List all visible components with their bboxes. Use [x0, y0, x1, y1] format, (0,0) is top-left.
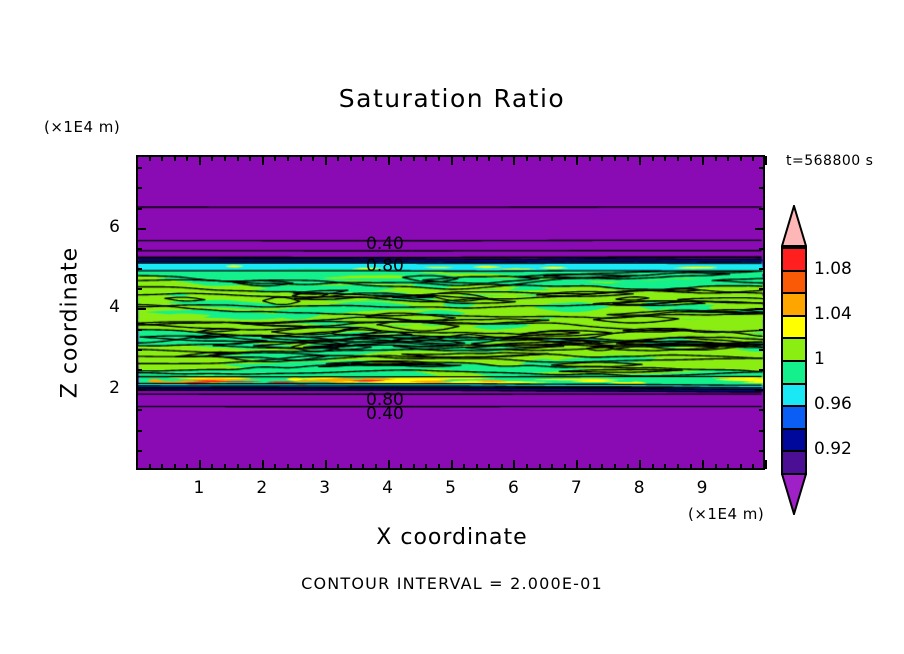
- tick-mark: [137, 308, 146, 310]
- tick-mark: [438, 464, 440, 469]
- tick-mark: [614, 156, 616, 161]
- tick-mark: [451, 460, 453, 469]
- tick-mark: [287, 464, 289, 469]
- tick-mark: [589, 464, 591, 469]
- tick-mark: [488, 156, 490, 161]
- tick-mark: [677, 156, 679, 161]
- tick-mark: [425, 156, 427, 161]
- tick-mark: [137, 369, 142, 371]
- tick-mark: [539, 464, 541, 469]
- tick-mark: [526, 464, 528, 469]
- colorbar-top-cap: [781, 205, 807, 247]
- tick-mark: [137, 167, 142, 169]
- tick-mark: [274, 156, 276, 161]
- tick-mark: [702, 156, 704, 165]
- tick-mark: [664, 464, 666, 469]
- colorbar-tick-label: 1.04: [814, 304, 852, 324]
- tick-mark: [614, 464, 616, 469]
- tick-mark: [400, 464, 402, 469]
- tick-mark: [137, 409, 142, 411]
- colorbar-band: [781, 292, 807, 317]
- tick-mark: [325, 156, 327, 165]
- tick-mark: [759, 288, 764, 290]
- tick-mark: [262, 460, 264, 469]
- colorbar-band: [781, 383, 807, 408]
- tick-mark: [375, 464, 377, 469]
- tick-mark: [601, 464, 603, 469]
- tick-mark: [765, 460, 767, 469]
- contour-line-label: 0.40: [366, 404, 404, 424]
- tick-mark: [476, 156, 478, 161]
- tick-mark: [388, 156, 390, 165]
- colorbar-band: [781, 360, 807, 385]
- tick-mark: [513, 156, 515, 165]
- tick-mark: [476, 464, 478, 469]
- colorbar-band: [781, 450, 807, 475]
- tick-mark: [362, 464, 364, 469]
- tick-mark: [652, 464, 654, 469]
- tick-mark: [186, 156, 188, 161]
- tick-mark: [287, 156, 289, 161]
- tick-mark: [237, 156, 239, 161]
- tick-mark: [759, 430, 764, 432]
- tick-mark: [752, 156, 754, 161]
- y-tick-label: 4: [96, 297, 120, 317]
- tick-mark: [137, 187, 142, 189]
- tick-mark: [759, 187, 764, 189]
- tick-mark: [137, 208, 142, 210]
- tick-mark: [137, 268, 142, 270]
- colorbar-band: [781, 337, 807, 362]
- x-tick-label: 4: [368, 478, 408, 498]
- tick-mark: [564, 156, 566, 161]
- tick-mark: [652, 156, 654, 161]
- tick-mark: [211, 156, 213, 161]
- tick-mark: [137, 288, 142, 290]
- tick-mark: [702, 460, 704, 469]
- colorbar-bottom-cap: [781, 473, 807, 515]
- colorbar-tick-label: 0.96: [814, 394, 852, 414]
- tick-mark: [765, 156, 767, 165]
- tick-mark: [759, 329, 764, 331]
- tick-mark: [224, 156, 226, 161]
- x-axis-unit-label: (×1E4 m): [688, 505, 764, 523]
- x-tick-label: 7: [556, 478, 596, 498]
- tick-mark: [755, 389, 764, 391]
- tick-mark: [677, 464, 679, 469]
- tick-mark: [740, 156, 742, 161]
- tick-mark: [551, 464, 553, 469]
- tick-mark: [639, 460, 641, 469]
- tick-mark: [199, 460, 201, 469]
- tick-mark: [501, 156, 503, 161]
- tick-mark: [425, 464, 427, 469]
- tick-mark: [211, 464, 213, 469]
- tick-mark: [564, 464, 566, 469]
- tick-mark: [488, 464, 490, 469]
- tick-mark: [262, 156, 264, 165]
- tick-mark: [350, 156, 352, 161]
- tick-mark: [639, 156, 641, 165]
- colorbar: [781, 205, 807, 515]
- tick-mark: [186, 464, 188, 469]
- tick-mark: [759, 248, 764, 250]
- x-tick-label: 2: [242, 478, 282, 498]
- tick-mark: [137, 430, 142, 432]
- time-annotation: t=568800 s: [786, 153, 873, 169]
- tick-mark: [312, 464, 314, 469]
- tick-mark: [137, 248, 142, 250]
- tick-mark: [312, 156, 314, 161]
- tick-mark: [664, 156, 666, 161]
- tick-mark: [149, 156, 151, 161]
- tick-mark: [715, 464, 717, 469]
- contour-line-label: 0.40: [366, 234, 404, 254]
- tick-mark: [337, 464, 339, 469]
- tick-mark: [759, 208, 764, 210]
- x-tick-label: 6: [493, 478, 533, 498]
- tick-mark: [715, 156, 717, 161]
- tick-mark: [627, 156, 629, 161]
- tick-mark: [589, 156, 591, 161]
- z-axis-unit-label: (×1E4 m): [44, 118, 120, 136]
- colorbar-band: [781, 270, 807, 295]
- y-tick-label: 6: [96, 217, 120, 237]
- tick-mark: [325, 460, 327, 469]
- tick-mark: [759, 268, 764, 270]
- y-axis-title: Z coordinate: [58, 193, 83, 453]
- colorbar-band: [781, 315, 807, 340]
- tick-mark: [501, 464, 503, 469]
- tick-mark: [576, 156, 578, 165]
- tick-mark: [362, 156, 364, 161]
- colorbar-band: [781, 428, 807, 453]
- tick-mark: [413, 464, 415, 469]
- tick-mark: [350, 464, 352, 469]
- tick-mark: [576, 460, 578, 469]
- tick-mark: [137, 450, 142, 452]
- tick-mark: [755, 228, 764, 230]
- x-tick-label: 9: [682, 478, 722, 498]
- tick-mark: [438, 156, 440, 161]
- tick-mark: [274, 464, 276, 469]
- tick-mark: [199, 156, 201, 165]
- tick-mark: [526, 156, 528, 161]
- tick-mark: [601, 156, 603, 161]
- x-tick-label: 8: [619, 478, 659, 498]
- tick-mark: [137, 349, 142, 351]
- tick-mark: [174, 156, 176, 161]
- tick-mark: [755, 308, 764, 310]
- tick-mark: [690, 464, 692, 469]
- tick-mark: [137, 329, 142, 331]
- tick-mark: [161, 464, 163, 469]
- page-title: Saturation Ratio: [0, 84, 904, 113]
- tick-mark: [249, 156, 251, 161]
- tick-mark: [759, 167, 764, 169]
- tick-mark: [400, 156, 402, 161]
- tick-mark: [627, 464, 629, 469]
- tick-mark: [224, 464, 226, 469]
- tick-mark: [137, 228, 146, 230]
- tick-mark: [463, 464, 465, 469]
- tick-mark: [137, 389, 146, 391]
- tick-mark: [759, 369, 764, 371]
- y-tick-label: 2: [96, 378, 120, 398]
- tick-mark: [149, 464, 151, 469]
- tick-mark: [740, 464, 742, 469]
- tick-mark: [727, 464, 729, 469]
- tick-mark: [300, 156, 302, 161]
- tick-mark: [388, 460, 390, 469]
- tick-mark: [237, 464, 239, 469]
- contour-plot-area: 0.400.800.800.40: [136, 155, 765, 470]
- colorbar-band: [781, 405, 807, 430]
- tick-mark: [690, 156, 692, 161]
- x-tick-label: 1: [179, 478, 219, 498]
- colorbar-tick-label: 1: [814, 349, 825, 369]
- colorbar-band: [781, 247, 807, 272]
- tick-mark: [727, 156, 729, 161]
- contour-field-canvas: [138, 157, 763, 468]
- tick-mark: [539, 156, 541, 161]
- tick-mark: [375, 156, 377, 161]
- tick-mark: [161, 156, 163, 161]
- tick-mark: [759, 450, 764, 452]
- tick-mark: [249, 464, 251, 469]
- colorbar-tick-label: 0.92: [814, 439, 852, 459]
- x-tick-label: 5: [431, 478, 471, 498]
- tick-mark: [513, 460, 515, 469]
- tick-mark: [752, 464, 754, 469]
- tick-mark: [337, 156, 339, 161]
- colorbar-tick-label: 1.08: [814, 259, 852, 279]
- tick-mark: [759, 349, 764, 351]
- tick-mark: [174, 464, 176, 469]
- x-tick-label: 3: [305, 478, 345, 498]
- tick-mark: [413, 156, 415, 161]
- contour-line-label: 0.80: [366, 256, 404, 276]
- tick-mark: [551, 156, 553, 161]
- tick-mark: [759, 409, 764, 411]
- x-axis-title: X coordinate: [0, 525, 904, 550]
- tick-mark: [300, 464, 302, 469]
- contour-interval-caption: CONTOUR INTERVAL = 2.000E-01: [0, 574, 904, 593]
- tick-mark: [451, 156, 453, 165]
- tick-mark: [463, 156, 465, 161]
